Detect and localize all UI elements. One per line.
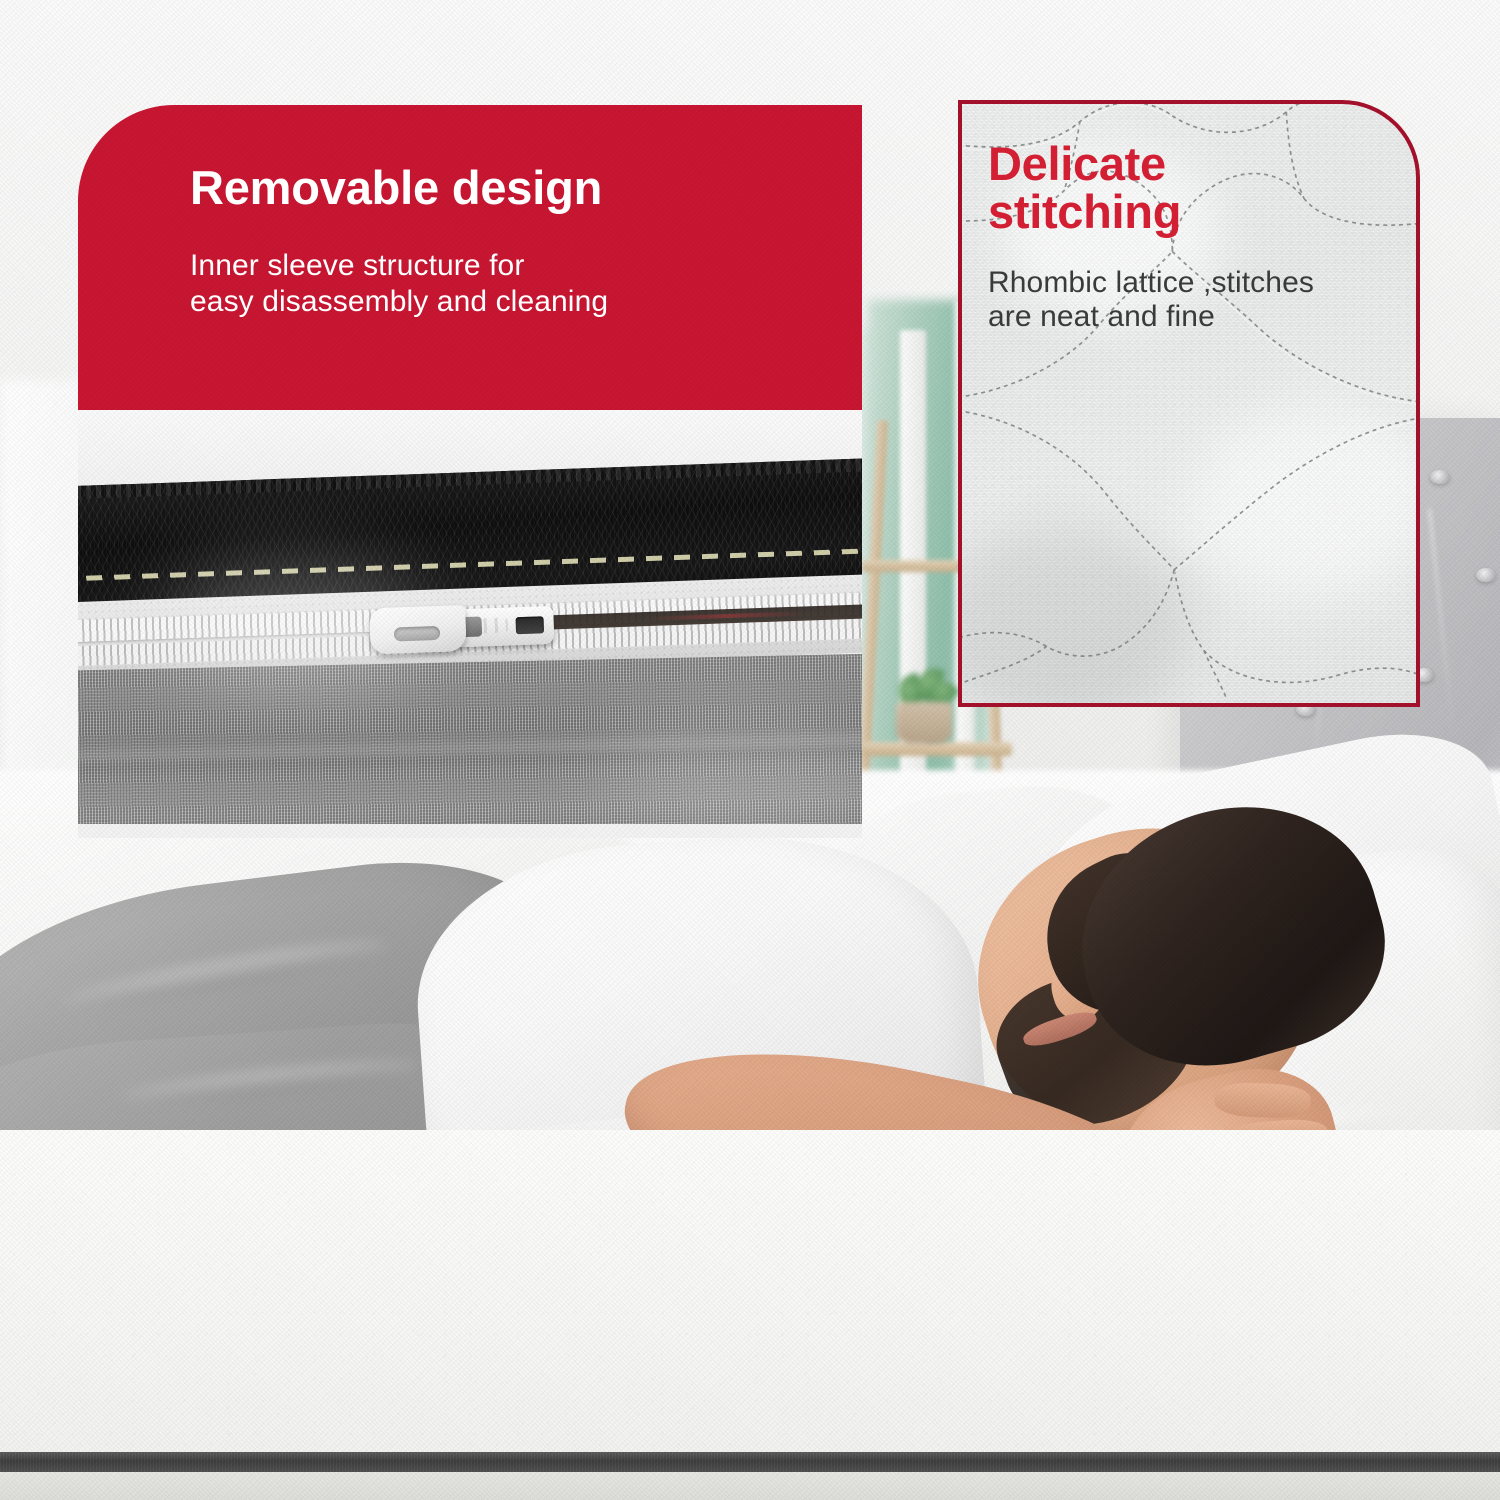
headboard-button [1430,470,1450,484]
zipper-closeup-photo [78,410,862,838]
slider-slot [516,616,545,634]
headboard-button [1476,568,1496,582]
card-left-body-line2: easy disassembly and cleaning [190,284,850,319]
infographic-canvas: Delicate stitching Rhombic lattice ,stit… [0,0,1500,1500]
card-right-title-line1: Delicate [988,140,1408,188]
card-right-body-line1: Rhombic lattice ,stitches [988,266,1408,300]
finger [1214,1082,1311,1119]
card-left-body-line1: Inner sleeve structure for [190,248,850,283]
plant-pot [896,702,952,744]
card-right-title: Delicate stitching [988,140,1408,236]
card-left-body: Inner sleeve structure for easy disassem… [190,248,850,319]
card-right-body-line2: are neat and fine [988,300,1408,334]
card-removable-design: Removable design Inner sleeve structure … [78,105,862,838]
photo-highlight [168,560,428,690]
potted-plant [896,668,956,748]
headboard-fold [1428,509,1457,768]
card-delicate-stitching: Delicate stitching Rhombic lattice ,stit… [958,100,1420,707]
mattress-top [0,1130,1500,1500]
mattress-side-panel [0,1472,1500,1500]
card-right-text-block: Delicate stitching Rhombic lattice ,stit… [988,140,1408,334]
mattress-piping [0,1452,1500,1472]
card-right-body: Rhombic lattice ,stitches are neat and f… [988,266,1408,334]
card-right-title-line2: stitching [988,188,1408,236]
mattress-quilt-texture [0,1130,1500,1500]
card-left-text-block: Removable design Inner sleeve structure … [190,163,850,319]
card-left-title: Removable design [190,163,850,212]
photo-bottom-edge [78,824,862,838]
